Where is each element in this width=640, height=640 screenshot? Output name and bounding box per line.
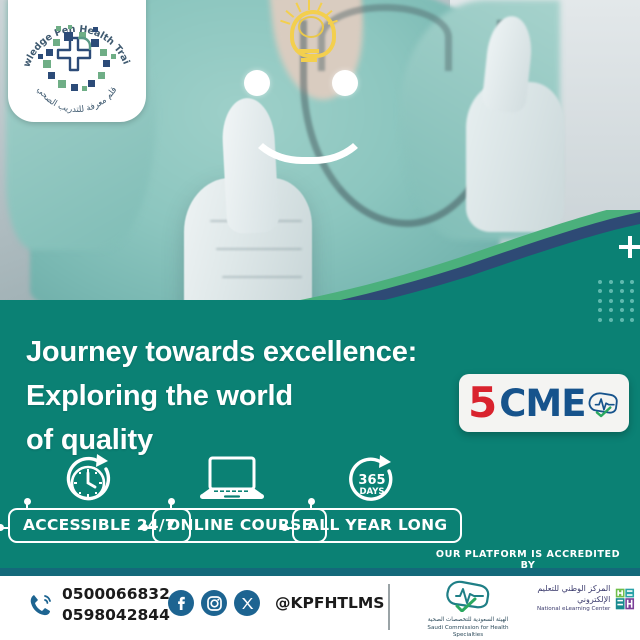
page-title: Journey towards excellence: Exploring th… (26, 330, 417, 462)
laptop-icon (152, 452, 312, 508)
365-days-icon: 365 DAYS (292, 452, 452, 508)
scfhs-name-en: Saudi Commission for Health Specialties (412, 625, 524, 640)
clock-24-7-icon (8, 452, 168, 508)
footer-divider (388, 584, 390, 630)
cme-credit-count: 5 (468, 382, 497, 424)
badge-label: ALL YEAR LONG (307, 516, 447, 534)
dot-grid-icon (598, 280, 638, 324)
lightbulb-idea-icon (278, 2, 340, 78)
promotional-poster: Journey towards excellence: Exploring th… (0, 0, 640, 640)
icon-text-365: 365 (358, 473, 385, 488)
badge-all-year-long: ALL YEAR LONG (292, 508, 462, 543)
footer-accent-band (0, 568, 640, 576)
nelc-name-en: National eLearning Center (524, 606, 610, 614)
accreditation-logo-scfhs: الهيئة السعودية للتخصصات الصحية Saudi Co… (412, 578, 524, 640)
scfhs-name-ar: الهيئة السعودية للتخصصات الصحية (412, 617, 524, 625)
instagram-icon[interactable] (201, 590, 227, 616)
phone-icon (28, 592, 54, 618)
cme-label: CME (499, 385, 585, 422)
headline-line-1: Journey towards excellence: (26, 330, 417, 374)
plus-icon (619, 236, 640, 258)
brand-logo: Knowledge Pen Health Training قلم معرفة … (8, 0, 146, 122)
facebook-icon[interactable] (168, 590, 194, 616)
cme-credits-badge: 5 CME (459, 374, 629, 432)
medical-cross-icon (58, 38, 90, 70)
social-handle[interactable]: @KPFHTLMS (275, 594, 384, 612)
photo-hand-right (460, 20, 570, 235)
headline-line-2: Exploring the world (26, 374, 417, 418)
national-elearning-center-logo (615, 584, 636, 614)
phone-numbers: 0500066832 0598042844 (62, 584, 170, 625)
feature-all-year-long: 365 DAYS ALL YEAR LONG (292, 452, 452, 543)
accreditation-logo-nelc: المركز الوطني للتعليم الإلكتروني Nationa… (524, 578, 636, 614)
social-links: @KPFHTLMS (168, 590, 384, 616)
saudi-commission-health-specialties-logo (443, 578, 493, 612)
phone-number-2: 0598042844 (62, 605, 170, 626)
feature-online-course: ONLINE COURSE (152, 452, 312, 543)
badge-label: ONLINE COURSE (167, 516, 312, 534)
phone-number-1: 0500066832 (62, 584, 170, 605)
smiley-mouth (242, 76, 374, 164)
icon-text-days: DAYS (359, 487, 384, 497)
nelc-name-ar: المركز الوطني للتعليم الإلكتروني (524, 584, 610, 606)
saudi-map-ecg-check-icon (587, 385, 620, 423)
footer: 0500066832 0598042844 @KPF (0, 576, 640, 640)
x-twitter-icon[interactable] (234, 590, 260, 616)
